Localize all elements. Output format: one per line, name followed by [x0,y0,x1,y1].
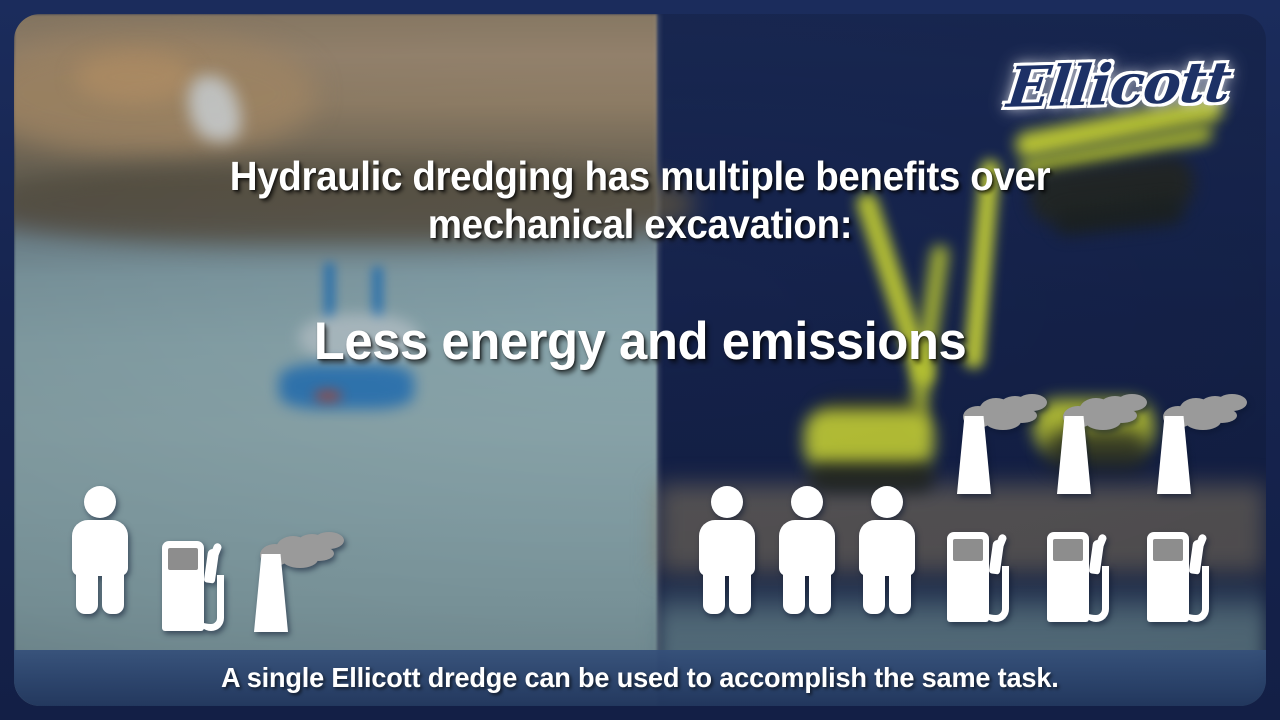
person-leg-left [76,568,98,614]
person-icon [699,486,755,614]
smokestack-icon [250,532,346,632]
fuel-pump-nozzle-tip [1094,533,1107,551]
left-icon-group-hydraulic [14,14,657,706]
person-icon [72,486,128,614]
smoke-puff [1007,408,1037,423]
smokestack-icon [953,394,1049,494]
person-head [791,486,823,518]
person-leg-right [809,568,831,614]
person-leg-right [102,568,124,614]
person-leg-left [783,568,805,614]
fuel-pump-display [1153,539,1183,561]
person-icon [859,486,915,614]
smoke-puff [1107,408,1137,423]
smokestack-icon [1053,394,1149,494]
fuel-pump-hose [198,575,224,631]
smoke-puff [1207,408,1237,423]
fuel-pump-display [168,548,198,570]
video-player-frame: Ellicott Hydraulic dredging has multiple… [0,0,1280,720]
person-head [711,486,743,518]
person-leg-left [703,568,725,614]
fuel-pump-hose [983,566,1009,622]
caption-text: A single Ellicott dredge can be used to … [221,662,1059,694]
person-head [871,486,903,518]
fuel-pump-hose [1083,566,1109,622]
caption-bar: A single Ellicott dredge can be used to … [14,650,1266,706]
person-icon [779,486,835,614]
fuel-pump-nozzle-tip [1194,533,1207,551]
right-icon-group-mechanical [657,14,1266,706]
person-leg-left [863,568,885,614]
smoke-puff [304,546,334,561]
fuel-pump-display [1053,539,1083,561]
fuel-pump-display [953,539,983,561]
fuel-pump-nozzle-tip [994,533,1007,551]
smokestack-icon [1153,394,1249,494]
person-leg-right [889,568,911,614]
video-stage[interactable]: Ellicott Hydraulic dredging has multiple… [14,14,1266,706]
fuel-pump-icon [162,541,228,631]
person-head [84,486,116,518]
fuel-pump-icon [1047,532,1113,622]
fuel-pump-hose [1183,566,1209,622]
fuel-pump-icon [947,532,1013,622]
person-leg-right [729,568,751,614]
fuel-pump-nozzle-tip [209,542,222,560]
fuel-pump-icon [1147,532,1213,622]
